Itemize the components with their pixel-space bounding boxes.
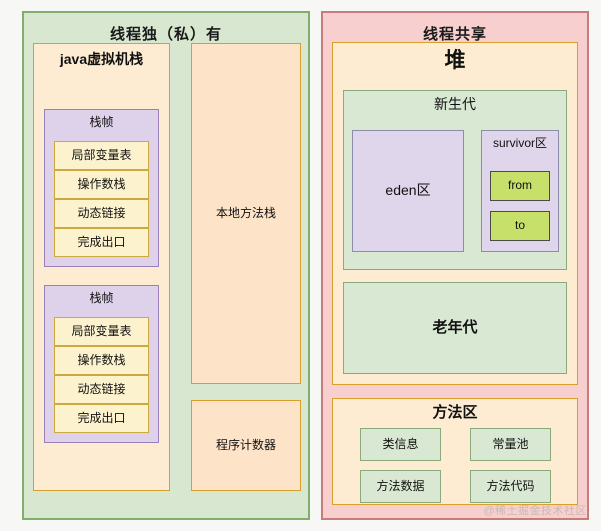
frame1-slot-dynamic-linking: 动态链接 xyxy=(54,199,149,228)
program-counter-box: 程序计数器 xyxy=(191,400,301,491)
method-area-item-constant-pool: 常量池 xyxy=(470,428,551,461)
stack-frame-2-label: 栈帧 xyxy=(45,286,158,305)
frame2-slot-operand-stack: 操作数栈 xyxy=(54,346,149,375)
frame2-slot-0-label: 局部变量表 xyxy=(55,325,148,338)
thread-shared-title: 线程共享 xyxy=(323,23,587,44)
native-method-stack-box: 本地方法栈 xyxy=(191,43,301,384)
frame1-slot-3-label: 完成出口 xyxy=(55,236,148,249)
method-area-item-2-label: 方法数据 xyxy=(361,480,440,493)
survivor-to-label: to xyxy=(491,219,549,232)
method-area-item-1-label: 常量池 xyxy=(471,438,550,451)
old-generation-label: 老年代 xyxy=(344,320,566,337)
method-area-item-0-label: 类信息 xyxy=(361,438,440,451)
frame1-slot-local-variable-table: 局部变量表 xyxy=(54,141,149,170)
frame2-slot-method-return: 完成出口 xyxy=(54,404,149,433)
frame2-slot-dynamic-linking: 动态链接 xyxy=(54,375,149,404)
frame1-slot-operand-stack: 操作数栈 xyxy=(54,170,149,199)
stack-frame-1-label: 栈帧 xyxy=(45,110,158,129)
frame2-slot-local-variable-table: 局部变量表 xyxy=(54,317,149,346)
survivor-from-box: from xyxy=(490,171,550,201)
watermark-text: @稀土掘金技术社区 xyxy=(483,502,587,518)
thread-private-title: 线程独（私）有 xyxy=(24,23,308,44)
frame2-slot-3-label: 完成出口 xyxy=(55,412,148,425)
jvm-stack-label: java虚拟机栈 xyxy=(34,44,169,67)
method-area-label: 方法区 xyxy=(333,399,577,422)
native-method-stack-label: 本地方法栈 xyxy=(192,207,300,220)
eden-space-box: eden区 xyxy=(352,130,464,252)
frame1-slot-0-label: 局部变量表 xyxy=(55,149,148,162)
old-generation-box: 老年代 xyxy=(343,282,567,374)
heap-label: 堆 xyxy=(333,43,577,72)
method-area-item-method-code: 方法代码 xyxy=(470,470,551,503)
survivor-from-label: from xyxy=(491,179,549,192)
method-area-item-method-data: 方法数据 xyxy=(360,470,441,503)
frame1-slot-method-return: 完成出口 xyxy=(54,228,149,257)
survivor-space-label: survivor区 xyxy=(482,131,558,150)
frame2-slot-2-label: 动态链接 xyxy=(55,383,148,396)
frame2-slot-1-label: 操作数栈 xyxy=(55,354,148,367)
frame1-slot-2-label: 动态链接 xyxy=(55,207,148,220)
program-counter-label: 程序计数器 xyxy=(192,439,300,452)
frame1-slot-1-label: 操作数栈 xyxy=(55,178,148,191)
method-area-item-3-label: 方法代码 xyxy=(471,480,550,493)
jvm-memory-diagram: 线程独（私）有 java虚拟机栈 栈帧 局部变量表 操作数栈 动态链接 完成出口… xyxy=(0,0,601,531)
eden-space-label: eden区 xyxy=(353,183,463,198)
method-area-item-class-info: 类信息 xyxy=(360,428,441,461)
young-generation-label: 新生代 xyxy=(344,91,566,112)
survivor-to-box: to xyxy=(490,211,550,241)
